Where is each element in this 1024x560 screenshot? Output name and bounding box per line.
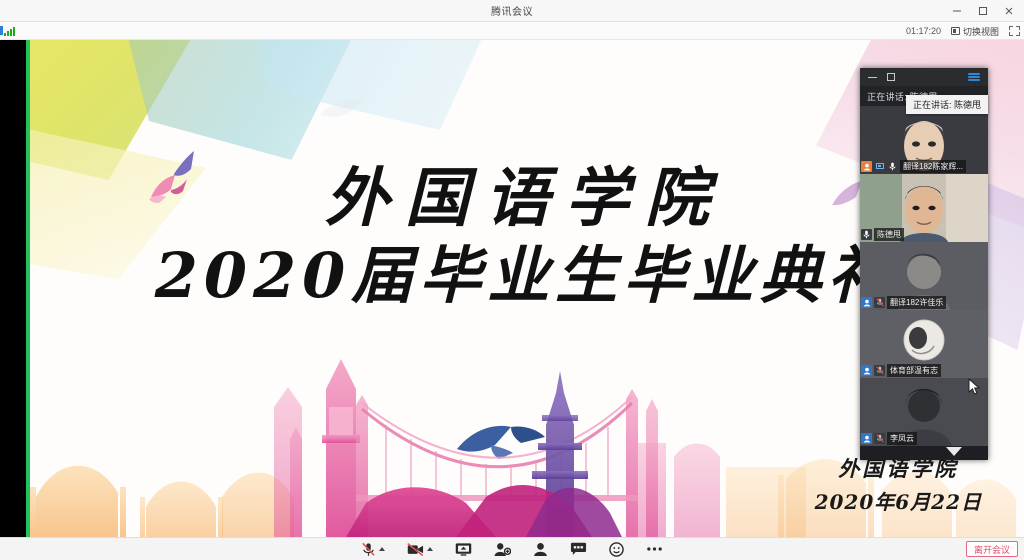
mic-badge — [887, 161, 898, 172]
participant-label: 陈德甩 — [860, 227, 907, 242]
participant-tile[interactable]: 体育部温有志 — [860, 310, 988, 378]
slide-footer-line2: 2020年6月22日 — [815, 486, 982, 515]
participants-panel: 正在讲话: 陈德甩 — [860, 68, 988, 460]
chat-icon — [570, 542, 587, 556]
participant-label: 翻译182陈家辉... — [860, 159, 969, 174]
close-button[interactable] — [996, 0, 1022, 22]
participants-button[interactable] — [533, 542, 548, 557]
user-badge — [861, 433, 872, 444]
microphone-options-caret[interactable] — [379, 547, 385, 551]
participant-name: 陈德甩 — [874, 228, 904, 241]
mic-badge — [861, 229, 872, 240]
participant-tile[interactable]: 翻译182许佳乐 — [860, 242, 988, 310]
network-indicator-icon — [0, 26, 3, 35]
share-screen-icon — [455, 542, 472, 557]
chevron-down-icon[interactable] — [946, 447, 962, 456]
user-badge — [861, 297, 872, 308]
bird-icon-faint — [316, 92, 386, 126]
signal-strength-icon[interactable] — [4, 26, 15, 36]
info-bar-right: 01:17:20 切换视图 — [906, 22, 1020, 40]
microphone-muted-icon — [361, 542, 376, 557]
participant-name: 李凤云 — [887, 432, 917, 445]
participant-tile[interactable]: 陈德甩 — [860, 174, 988, 242]
participant-name: 翻译182陈家辉... — [900, 160, 966, 173]
screen-share-border — [26, 40, 30, 537]
speaking-tooltip: 正在讲话: 陈德甩 — [906, 95, 988, 114]
emoji-button[interactable] — [609, 542, 624, 557]
mic-muted-badge — [874, 433, 885, 444]
window-controls — [944, 0, 1022, 22]
meeting-toolbar: 离开会议 — [0, 537, 1024, 560]
emoji-icon — [609, 542, 624, 557]
participant-label: 翻译182许佳乐 — [860, 295, 949, 310]
participants-icon — [533, 542, 548, 557]
window-title-bar: 腾讯会议 — [0, 0, 1024, 22]
participant-label: 李凤云 — [860, 431, 920, 446]
minimize-button[interactable] — [944, 0, 970, 22]
slide-footer-block: 外国语学院 2020年6月22日 — [815, 453, 982, 515]
microphone-muted-button[interactable] — [361, 542, 385, 557]
window-title: 腾讯会议 — [491, 3, 533, 18]
more-options-icon — [646, 546, 663, 552]
host-badge — [861, 161, 872, 172]
panel-maximize-icon[interactable] — [887, 73, 895, 81]
panel-title-bar — [860, 68, 988, 86]
shared-screen-stage: 外国语学院 2020届毕业生毕业典礼 — [0, 40, 1024, 537]
user-badge — [861, 365, 872, 376]
layout-icon — [951, 27, 960, 35]
invite-member-button[interactable] — [494, 542, 511, 557]
leave-meeting-button[interactable]: 离开会议 — [966, 541, 1018, 557]
participant-label: 体育部温有志 — [860, 363, 944, 378]
chat-button[interactable] — [570, 542, 587, 556]
panel-menu-icon[interactable] — [968, 73, 980, 81]
toolbar-buttons — [361, 542, 663, 557]
participant-name: 体育部温有志 — [887, 364, 941, 377]
fullscreen-icon[interactable] — [1009, 26, 1020, 36]
panel-minimize-icon[interactable] — [868, 77, 877, 78]
participant-name: 翻译182许佳乐 — [887, 296, 946, 309]
switch-view-button[interactable]: 切换视图 — [951, 25, 999, 38]
screen-share-badge — [874, 161, 885, 172]
switch-view-label: 切换视图 — [963, 25, 999, 38]
maximize-button[interactable] — [970, 0, 996, 22]
meeting-info-bar: 01:17:20 切换视图 — [0, 22, 1024, 40]
mouse-cursor — [968, 378, 980, 396]
camera-muted-icon — [407, 542, 424, 557]
tencent-meeting-window: 腾讯会议 01:17:20 切换视图 — [0, 0, 1024, 560]
more-options-button[interactable] — [646, 546, 663, 552]
mic-muted-badge — [874, 365, 885, 376]
camera-options-caret[interactable] — [427, 547, 433, 551]
camera-muted-button[interactable] — [407, 542, 433, 557]
mic-muted-badge — [874, 297, 885, 308]
invite-member-icon — [494, 542, 511, 557]
meeting-timer: 01:17:20 — [906, 26, 941, 36]
share-screen-button[interactable] — [455, 542, 472, 557]
participant-tile[interactable]: 翻译182陈家辉... — [860, 106, 988, 174]
